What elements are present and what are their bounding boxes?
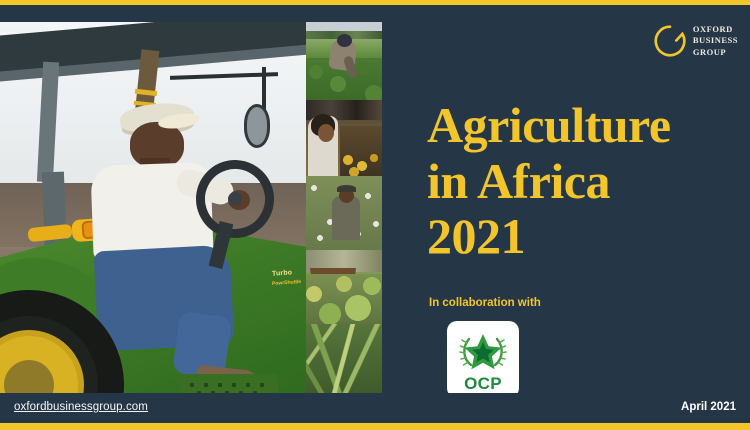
p2-woman-face [318, 124, 334, 142]
p3-man-hat [337, 185, 356, 192]
title-line-1: Agriculture [427, 98, 727, 154]
ocp-partner-logo: OCP [447, 321, 519, 398]
obg-wordmark: OXFORD BUSINESS GROUP [693, 24, 738, 58]
strip-photo-cotton-field [306, 176, 382, 250]
title-line-3: 2021 [427, 209, 727, 265]
strip-photo-melons [306, 250, 382, 324]
strip-photo-sugarcane [306, 324, 382, 397]
p5-leaves [306, 324, 382, 397]
top-navy-band [0, 5, 750, 22]
ocp-star-wreath-icon [458, 330, 508, 374]
strip-photo-farmer-field [306, 22, 382, 100]
footer-website-link[interactable]: oxfordbusinessgroup.com [14, 401, 148, 413]
p4-melons [306, 274, 382, 324]
hero-tractor-photo: Turbo PowrShuttle [0, 22, 306, 397]
bottom-accent-bar [0, 423, 750, 430]
collaboration-label: In collaboration with [429, 297, 541, 309]
tractor-badge-turbo: Turbo [272, 269, 293, 277]
tractor-side-mirror [244, 104, 270, 148]
p2-produce [340, 126, 382, 176]
ocp-wordmark: OCP [464, 375, 502, 392]
page-title: Agriculture in Africa 2021 [427, 98, 727, 265]
report-cover-slide: Turbo PowrShuttle [0, 0, 750, 430]
footer-publication-date: April 2021 [681, 401, 736, 413]
obg-circle-icon [653, 24, 687, 58]
strip-photo-market [306, 100, 382, 176]
photo-strip [306, 22, 382, 397]
footer-bar: oxfordbusinessgroup.com April 2021 [0, 393, 750, 423]
title-line-2: in Africa [427, 154, 727, 210]
obg-word-3: GROUP [693, 47, 738, 58]
p1-farmer-head [337, 34, 352, 47]
top-accent-bar [0, 0, 750, 5]
obg-word-1: OXFORD [693, 24, 738, 35]
obg-word-2: BUSINESS [693, 35, 738, 46]
oxford-business-group-logo: OXFORD BUSINESS GROUP [653, 24, 738, 58]
